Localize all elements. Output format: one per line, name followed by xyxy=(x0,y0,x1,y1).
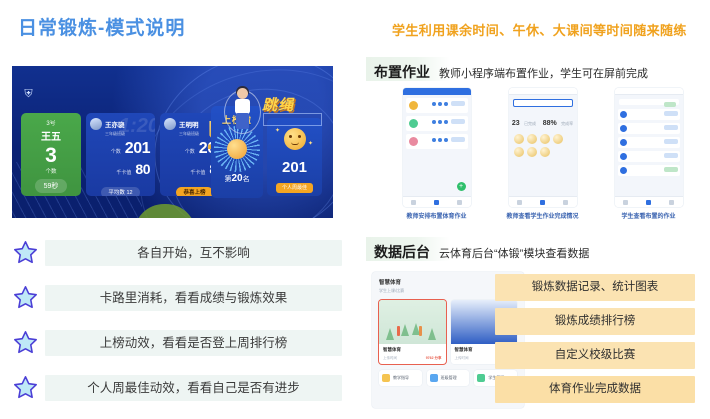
list-item[interactable] xyxy=(406,134,468,149)
card-thumbnail xyxy=(379,300,446,344)
list-item[interactable] xyxy=(618,109,680,120)
list-item[interactable] xyxy=(618,151,680,162)
score-name-2: 王明明 xyxy=(179,119,199,129)
headline-underbox xyxy=(263,113,322,126)
page-title: 日常锻炼-模式说明 xyxy=(18,13,185,40)
jump-rope-figure-icon xyxy=(228,88,256,134)
tab-icon[interactable] xyxy=(457,200,462,205)
class-icon xyxy=(430,374,438,382)
action-dot-icon[interactable] xyxy=(438,120,442,124)
score-chip-2: 恭喜上榜 xyxy=(176,187,212,197)
status-badge xyxy=(451,137,465,142)
medal-icon xyxy=(527,147,537,157)
phone-mockup-3[interactable]: 学生查看布置的作业 xyxy=(598,88,699,220)
status-badge xyxy=(451,101,465,106)
tab-icon-active[interactable] xyxy=(646,200,651,205)
item-lines xyxy=(421,119,448,124)
action-dot-icon[interactable] xyxy=(444,138,448,142)
figure-head xyxy=(237,88,248,99)
phone-topbar xyxy=(615,88,683,95)
list-item: 个人周最佳动效，看看自己是否有进步 xyxy=(12,371,342,404)
tree-icon xyxy=(386,328,394,340)
status-badge xyxy=(451,119,465,124)
star-icon xyxy=(12,284,39,311)
score-label-1a: 个数 xyxy=(111,148,121,155)
list-item-label: 各自开始，互不影响 xyxy=(45,240,342,266)
tab-icon[interactable] xyxy=(411,200,416,205)
avatar xyxy=(409,137,418,146)
stat-rate: 88% 完成率 xyxy=(543,112,573,130)
star-icon xyxy=(12,239,39,266)
stat-label: 已完成 xyxy=(524,121,536,126)
phone-tabbar[interactable] xyxy=(403,196,471,207)
action-dot-icon[interactable] xyxy=(444,102,448,106)
feature-item: 锻炼数据记录、统计图表 xyxy=(495,274,695,301)
student-name: 王五 xyxy=(21,128,81,143)
add-button[interactable]: + xyxy=(457,182,466,191)
list-item-label: 个人周最佳动效，看看自己是否有进步 xyxy=(45,375,342,401)
status-badge xyxy=(664,111,678,116)
figure-legs xyxy=(236,113,249,129)
avatar xyxy=(90,118,102,130)
tab-icon-active[interactable] xyxy=(434,200,439,205)
sparkle-icon: ✦ xyxy=(308,140,313,147)
tree-icon xyxy=(401,324,409,336)
rank-value: 20 xyxy=(231,173,242,184)
status-badge xyxy=(664,125,678,130)
feature-item: 体育作业完成数据 xyxy=(495,376,695,403)
rank-suffix: 名 xyxy=(243,176,250,183)
backend-tab-label: 班级管理 xyxy=(441,375,457,381)
leaderboard-rank: 第20名 xyxy=(211,173,263,184)
tab-icon-active[interactable] xyxy=(540,200,545,205)
section-subtitle: 教师小程序端布置作业，学生可在屏前完成 xyxy=(439,65,648,81)
avatar xyxy=(164,118,176,130)
score-row-1a: 个数 201 xyxy=(86,140,155,158)
score-label-2a: 个数 xyxy=(185,148,195,155)
score-chip-1: 平均数 12 xyxy=(101,187,139,197)
card-name: 智慧体育 xyxy=(383,347,442,353)
score-sub-1: 三年级班级 xyxy=(86,131,155,137)
student-icon xyxy=(477,374,485,382)
right-headline: 学生利用课余时间、午休、大课间等时间随来随练 xyxy=(392,20,687,39)
action-dot-icon[interactable] xyxy=(432,120,436,124)
phone-screen-student-view[interactable] xyxy=(615,88,683,207)
sunburst-orb xyxy=(227,139,247,159)
stat-completed: 23 已完成 xyxy=(512,112,536,130)
avatar xyxy=(620,111,627,118)
action-dot-icon[interactable] xyxy=(438,138,442,142)
backend-card-selected[interactable]: 智慧体育 上传时间 9762 分享 xyxy=(379,300,446,364)
card-meta: 上传时间 9762 分享 xyxy=(383,356,442,361)
avatar xyxy=(409,119,418,128)
stat-label: 完成率 xyxy=(561,121,573,126)
avatar xyxy=(409,101,418,110)
personal-best-value: 201 xyxy=(267,159,322,176)
phone-caption: 学生查看布置的作业 xyxy=(598,211,699,220)
list-item[interactable] xyxy=(618,165,680,176)
list-item: 卡路里消耗，看看成绩与锻炼效果 xyxy=(12,281,342,314)
score-label-2b: 千卡值 xyxy=(190,169,205,176)
star-icon xyxy=(12,329,39,356)
list-item: 上榜动效，看看是否登上周排行榜 xyxy=(12,326,342,359)
item-lines xyxy=(421,101,448,106)
sparkle-icon: ✦ xyxy=(275,127,280,134)
student-rank-card: 3号 王五 3 个数 59秒 xyxy=(21,113,81,196)
medal-grid xyxy=(509,130,577,161)
card-meta-left: 上传时间 xyxy=(383,356,397,361)
school-logo-icon: ⛨ xyxy=(22,88,35,101)
teaching-icon xyxy=(382,374,390,382)
personal-best-panel: ✦ ✦ 201 个人周最佳 xyxy=(267,118,322,196)
video-preview[interactable]: ⛨ 3号 王五 3 个数 59秒 1:20 王亦骁 三年级班级 个数 201 xyxy=(12,66,333,218)
score-card-1: 1:20 王亦骁 三年级班级 个数 201 千卡值 80 平均数 12 xyxy=(86,113,155,196)
section-subtitle: 云体育后台“体锻”模块查看数据 xyxy=(439,245,589,261)
phone-screen-assignments[interactable]: + xyxy=(403,88,471,207)
runner-icon xyxy=(419,326,422,336)
list-item: 各自开始，互不影响 xyxy=(12,236,342,269)
stat-value: 23 xyxy=(512,120,520,127)
section-title: 数据后台 xyxy=(374,242,430,262)
bullet-list: 各自开始，互不影响 卡路里消耗，看看成绩与锻炼效果 上榜动效，看看是否登上周排行… xyxy=(12,236,342,416)
item-lines xyxy=(421,137,448,142)
feature-list: 锻炼数据记录、统计图表 锻炼成绩排行榜 自定义校级比赛 体育作业完成数据 xyxy=(495,274,695,410)
student-list xyxy=(615,109,683,182)
smiley-icon xyxy=(284,128,306,150)
assignment-list xyxy=(403,95,471,155)
feature-item: 自定义校级比赛 xyxy=(495,342,695,369)
stats-row: 23 已完成 88% 完成率 xyxy=(509,112,577,130)
backend-tab-teaching[interactable]: 教学指导 xyxy=(379,370,422,386)
left-column: 日常锻炼-模式说明 ⛨ 3号 王五 3 个数 59秒 1:20 王 xyxy=(0,0,352,419)
medal-icon xyxy=(514,147,524,157)
avatar xyxy=(620,153,627,160)
phone-tabbar[interactable] xyxy=(615,196,683,207)
student-time-pill: 59秒 xyxy=(35,179,68,193)
status-badge xyxy=(664,153,678,158)
card-body: 智慧体育 上传时间 9762 分享 xyxy=(379,344,446,364)
medal-icon xyxy=(514,134,524,144)
sunburst-icon xyxy=(222,134,252,164)
score-foot-1: 平均数 12 xyxy=(86,181,155,196)
list-item[interactable] xyxy=(406,116,468,131)
action-dots[interactable] xyxy=(421,138,448,142)
section-header-assignments: 布置作业 教师小程序端布置作业，学生可在屏前完成 xyxy=(374,62,648,82)
message-bubble xyxy=(619,99,679,105)
list-item-label: 卡路里消耗，看看成绩与锻炼效果 xyxy=(45,285,342,311)
phone-mockup-group: + 教师安排布置体育作业 xyxy=(370,88,700,228)
medal-icon xyxy=(553,134,563,144)
student-number: 3号 xyxy=(21,118,81,127)
score-value-1a: 201 xyxy=(125,140,150,158)
list-item[interactable] xyxy=(618,137,680,148)
status-badge xyxy=(664,167,678,172)
video-headline: 跳绳 xyxy=(262,94,294,115)
avatar xyxy=(620,139,627,146)
phone-topbar xyxy=(509,88,577,95)
avatar xyxy=(620,125,627,132)
medal-icon xyxy=(527,134,537,144)
phone-caption: 教师安排布置体育作业 xyxy=(386,211,487,220)
section-title: 布置作业 xyxy=(374,62,430,82)
list-item[interactable] xyxy=(618,123,680,134)
runner-icon xyxy=(397,326,400,336)
backend-tab-label: 教学指导 xyxy=(393,375,409,381)
section-header-data-backend: 数据后台 云体育后台“体锻”模块查看数据 xyxy=(374,242,589,262)
right-column: 学生利用课余时间、午休、大课间等时间随来随练 布置作业 教师小程序端布置作业，学… xyxy=(352,0,710,419)
status-badge xyxy=(664,102,676,107)
avatar xyxy=(620,167,627,174)
action-dots[interactable] xyxy=(421,102,448,106)
list-item[interactable] xyxy=(406,98,468,113)
phone-screen-completion[interactable]: 23 已完成 88% 完成率 xyxy=(509,88,577,207)
score-value-1b: 80 xyxy=(135,161,150,177)
backend-tab-class[interactable]: 班级管理 xyxy=(427,370,470,386)
feature-item: 锻炼成绩排行榜 xyxy=(495,308,695,335)
phone-tabbar[interactable] xyxy=(509,196,577,207)
student-count: 3 xyxy=(21,145,81,166)
status-badge xyxy=(664,139,678,144)
tab-icon[interactable] xyxy=(669,200,674,205)
list-item-label: 上榜动效，看看是否登上周排行榜 xyxy=(45,330,342,356)
personal-best-chip: 个人周最佳 xyxy=(276,183,313,193)
phone-caption: 教师查看学生作业完成情况 xyxy=(492,211,593,220)
star-icon xyxy=(12,374,39,401)
tab-icon[interactable] xyxy=(517,200,522,205)
medal-icon xyxy=(540,134,550,144)
action-dot-icon[interactable] xyxy=(432,102,436,106)
action-dot-icon[interactable] xyxy=(444,120,448,124)
phone-mockup-1[interactable]: + 教师安排布置体育作业 xyxy=(386,88,487,220)
action-dots[interactable] xyxy=(421,120,448,124)
action-dot-icon[interactable] xyxy=(432,138,436,142)
action-dot-icon[interactable] xyxy=(438,102,442,106)
medal-icon xyxy=(540,147,550,157)
phone-topbar xyxy=(403,88,471,95)
score-row-1b: 千卡值 80 xyxy=(86,161,155,177)
phone-mockup-2[interactable]: 23 已完成 88% 完成率 xyxy=(492,88,593,220)
tree-icon xyxy=(428,328,436,340)
tab-icon[interactable] xyxy=(623,200,628,205)
student-count-unit: 个数 xyxy=(21,167,81,175)
score-label-1b: 千卡值 xyxy=(116,169,131,176)
slide-root: 日常锻炼-模式说明 ⛨ 3号 王五 3 个数 59秒 1:20 王 xyxy=(0,0,710,419)
summary-card xyxy=(513,99,573,107)
card-meta-left: 上传时间 xyxy=(455,356,469,361)
tab-icon[interactable] xyxy=(563,200,568,205)
stat-value: 88% xyxy=(543,120,557,127)
figure-body xyxy=(235,99,250,114)
card-meta-right: 9762 分享 xyxy=(426,356,442,361)
